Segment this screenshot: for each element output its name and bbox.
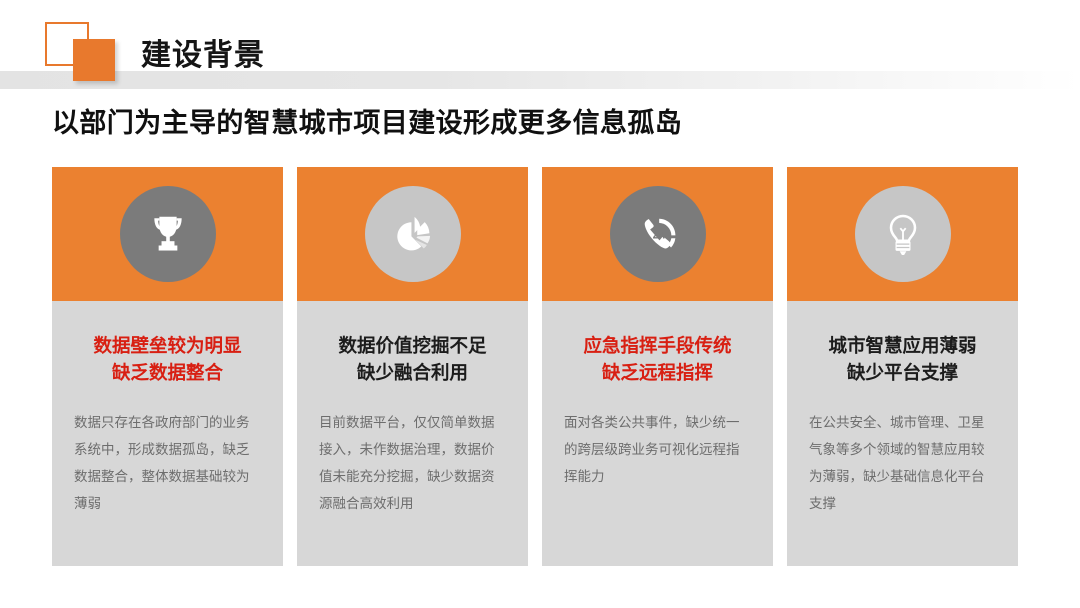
card-3-heading-line2: 缺乏远程指挥 xyxy=(564,360,751,387)
card-1-icon-circle xyxy=(120,186,216,282)
header-accent-band xyxy=(0,71,1080,89)
lightbulb-icon xyxy=(879,210,927,258)
header-decoration xyxy=(45,22,123,80)
phone-24h-icon: 24 xyxy=(633,209,683,259)
card-3-heading: 应急指挥手段传统 缺乏远程指挥 xyxy=(564,333,751,387)
card-2[interactable]: 数据价值挖掘不足 缺少融合利用 目前数据平台，仅仅简单数据接入，未作数据治理，数… xyxy=(297,167,528,566)
card-4-text: 在公共安全、城市管理、卫星气象等多个领域的智慧应用较为薄弱，缺少基础信息化平台支… xyxy=(809,409,996,517)
badge-24-label: 24 xyxy=(652,229,666,242)
card-4-body: 城市智慧应用薄弱 缺少平台支撑 在公共安全、城市管理、卫星气象等多个领域的智慧应… xyxy=(787,301,1018,566)
pie-chart-icon xyxy=(388,209,438,259)
card-3-heading-line1: 应急指挥手段传统 xyxy=(583,335,731,356)
card-2-heading-line1: 数据价值挖掘不足 xyxy=(338,335,486,356)
square-filled-icon xyxy=(73,39,115,81)
card-4-header xyxy=(787,167,1018,301)
card-3-text: 面对各类公共事件，缺少统一的跨层级跨业务可视化远程指挥能力 xyxy=(564,409,751,490)
card-4-heading: 城市智慧应用薄弱 缺少平台支撑 xyxy=(809,333,996,387)
card-3-body: 应急指挥手段传统 缺乏远程指挥 面对各类公共事件，缺少统一的跨层级跨业务可视化远… xyxy=(542,301,773,566)
card-4-heading-line2: 缺少平台支撑 xyxy=(809,360,996,387)
slide-canvas: 建设背景 以部门为主导的智慧城市项目建设形成更多信息孤岛 xyxy=(0,0,1080,608)
card-2-body: 数据价值挖掘不足 缺少融合利用 目前数据平台，仅仅简单数据接入，未作数据治理，数… xyxy=(297,301,528,566)
card-3[interactable]: 24 应急指挥手段传统 缺乏远程指挥 面对各类公共事件，缺少统一的跨层级跨业务可… xyxy=(542,167,773,566)
card-1-heading-line1: 数据壁垒较为明显 xyxy=(93,335,241,356)
card-4-heading-line1: 城市智慧应用薄弱 xyxy=(828,335,976,356)
card-3-header: 24 xyxy=(542,167,773,301)
card-4-icon-circle xyxy=(855,186,951,282)
card-1-body: 数据壁垒较为明显 缺乏数据整合 数据只存在各政府部门的业务系统中，形成数据孤岛，… xyxy=(52,301,283,566)
card-row: 数据壁垒较为明显 缺乏数据整合 数据只存在各政府部门的业务系统中，形成数据孤岛，… xyxy=(52,167,1028,566)
card-2-header xyxy=(297,167,528,301)
card-1-text: 数据只存在各政府部门的业务系统中，形成数据孤岛，缺乏数据整合，整体数据基础较为薄… xyxy=(74,409,261,517)
slide-subtitle: 以部门为主导的智慧城市项目建设形成更多信息孤岛 xyxy=(52,110,682,137)
card-1-heading-line2: 缺乏数据整合 xyxy=(74,360,261,387)
card-2-icon-circle xyxy=(365,186,461,282)
card-1-heading: 数据壁垒较为明显 缺乏数据整合 xyxy=(74,333,261,387)
card-2-heading: 数据价值挖掘不足 缺少融合利用 xyxy=(319,333,506,387)
card-1[interactable]: 数据壁垒较为明显 缺乏数据整合 数据只存在各政府部门的业务系统中，形成数据孤岛，… xyxy=(52,167,283,566)
page-title: 建设背景 xyxy=(141,41,265,71)
card-4[interactable]: 城市智慧应用薄弱 缺少平台支撑 在公共安全、城市管理、卫星气象等多个领域的智慧应… xyxy=(787,167,1018,566)
card-3-icon-circle: 24 xyxy=(610,186,706,282)
trophy-icon xyxy=(145,211,191,257)
card-2-heading-line2: 缺少融合利用 xyxy=(319,360,506,387)
card-1-header xyxy=(52,167,283,301)
card-2-text: 目前数据平台，仅仅简单数据接入，未作数据治理，数据价值未能充分挖掘，缺少数据资源… xyxy=(319,409,506,517)
